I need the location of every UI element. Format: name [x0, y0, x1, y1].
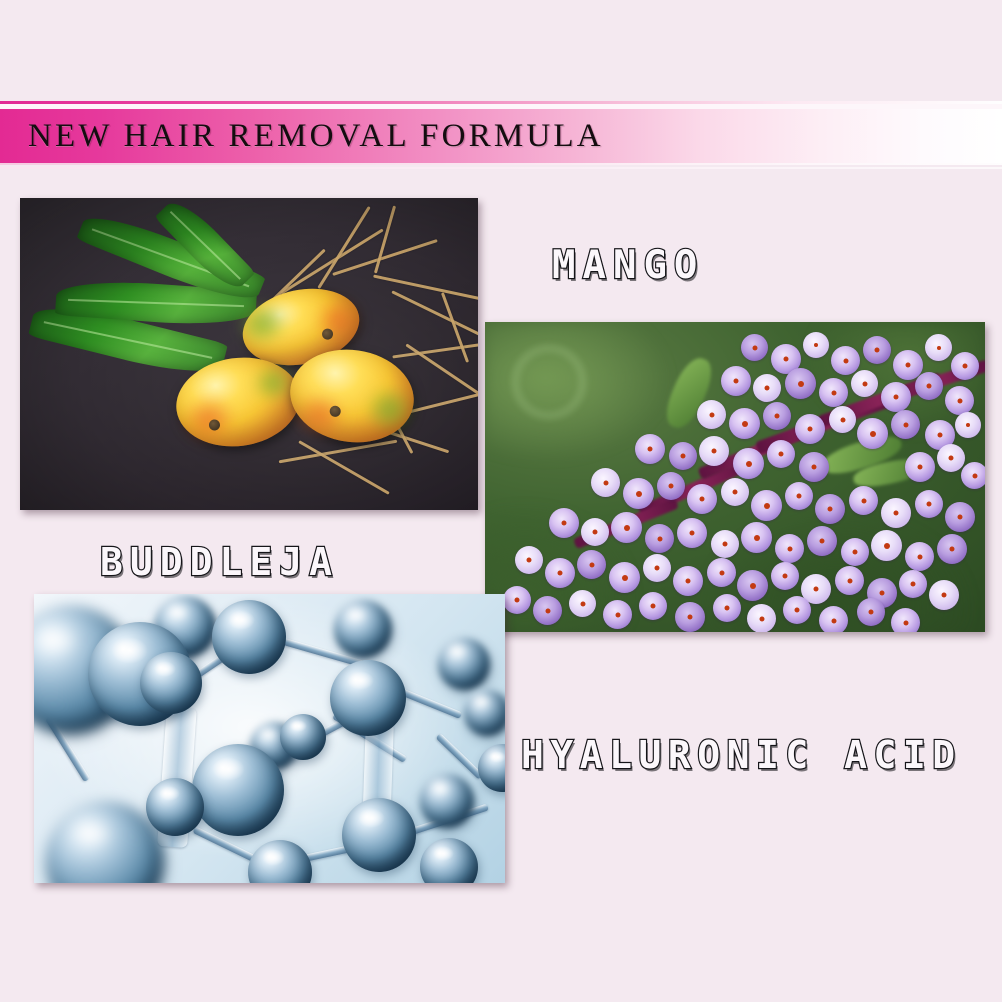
mango-photo [20, 198, 478, 510]
ingredient-label-mango: MANGO [552, 243, 704, 288]
buddleja-photo [485, 322, 985, 632]
molecule-photo [34, 594, 505, 883]
ingredient-label-buddleja: BUDDLEJA [100, 540, 339, 584]
banner-bottom-hairline [0, 163, 1002, 165]
banner-bottom-hairline-secondary [0, 167, 1002, 169]
product-infographic: NEW HAIR REMOVAL FORMULA [0, 0, 1002, 1002]
bokeh-ring [511, 344, 587, 420]
page-title: NEW HAIR REMOVAL FORMULA [28, 110, 604, 162]
ingredient-label-hyaluronic-acid: HYALURONIC ACID [521, 733, 962, 777]
